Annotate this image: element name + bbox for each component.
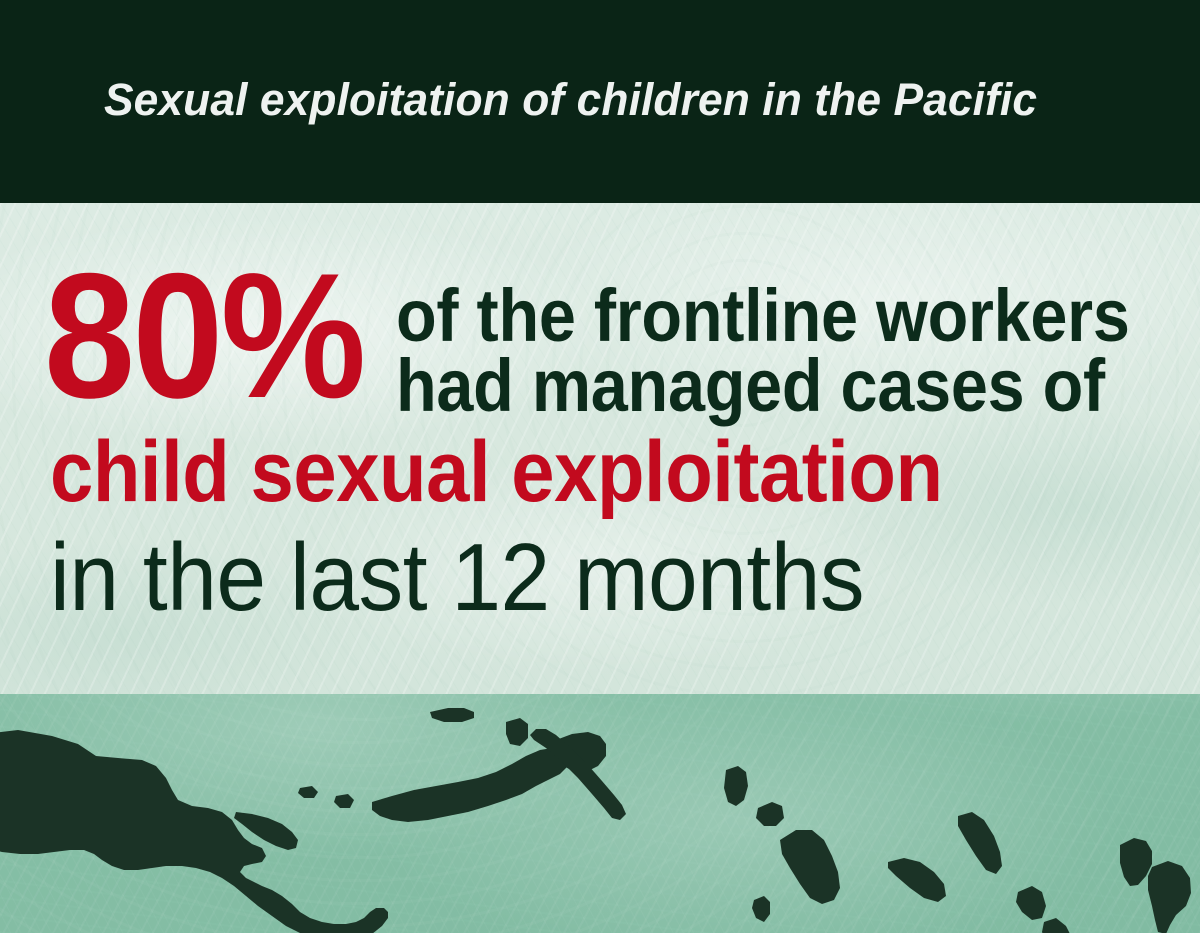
page-title: Sexual exploitation of children in the P…: [104, 72, 1037, 128]
island-makira: [752, 896, 770, 922]
landmass-new-britain: [372, 748, 568, 822]
island-umboi: [298, 786, 318, 798]
island-choiseul: [756, 802, 784, 826]
island-santa-isabel: [780, 830, 840, 904]
island-vanua-levu: [1120, 838, 1152, 886]
island-guadalcanal: [888, 858, 946, 902]
statement-line-4: in the last 12 months: [50, 530, 864, 626]
island-viti-levu: [1148, 861, 1191, 933]
stat-percentage: 80%: [44, 261, 363, 411]
statement-text-block: 80% of the frontline workers had managed…: [0, 203, 1200, 694]
island-small-b: [506, 718, 528, 746]
statement-line-2: had managed cases of: [396, 349, 1105, 423]
statement-line-1: of the frontline workers: [396, 279, 1130, 353]
island-malaita: [958, 812, 1002, 874]
landmass-bougainville: [724, 766, 748, 806]
infographic-poster: Sexual exploitation of children in the P…: [0, 0, 1200, 933]
statement-line-3-highlight: child sexual exploitation: [50, 429, 943, 515]
landmass-papua-new-guinea: [0, 730, 388, 933]
island-small-a: [334, 794, 354, 808]
island-malakula: [1042, 918, 1082, 933]
island-manus: [430, 708, 474, 722]
island-espiritu-santo: [1016, 886, 1046, 920]
header-band: Sexual exploitation of children in the P…: [0, 0, 1200, 203]
